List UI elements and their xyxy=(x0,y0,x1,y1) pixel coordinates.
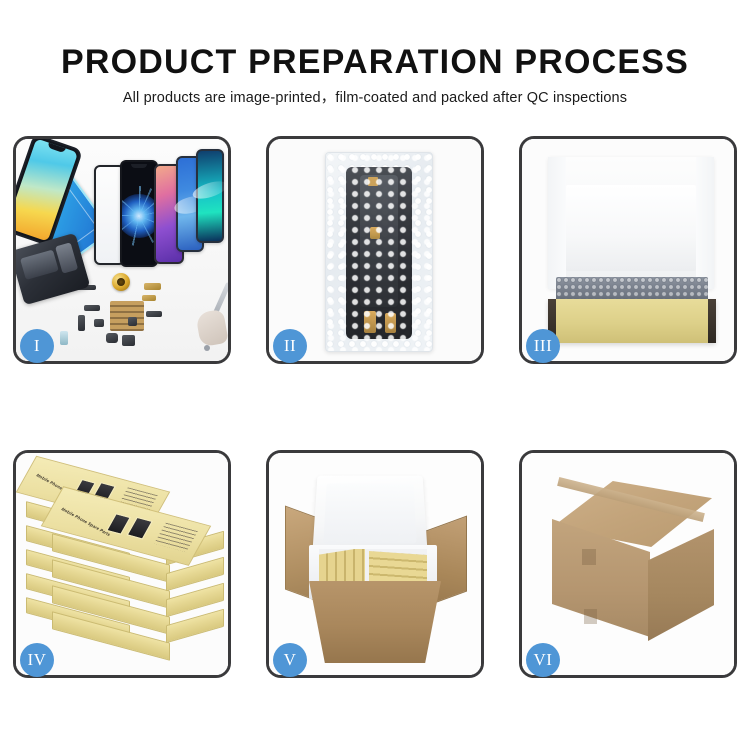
black-phone-screen-icon xyxy=(120,160,158,267)
step-6-image xyxy=(522,453,734,675)
screw-tray-icon xyxy=(110,301,144,331)
step-panel-1[interactable]: I xyxy=(13,136,231,364)
flex-cable-icon xyxy=(364,311,376,333)
flex-cable-icon xyxy=(370,227,380,239)
step-4-image: Mobile Phone Spare Parts xyxy=(16,453,228,675)
step-panel-2[interactable]: II xyxy=(266,136,484,364)
step-badge-1: I xyxy=(20,329,54,363)
step-badge-5: V xyxy=(273,643,307,677)
speaker-coil-icon xyxy=(112,273,130,291)
component-chip-icon xyxy=(94,319,104,327)
step-badge-4: IV xyxy=(20,643,54,677)
carton-seam-icon xyxy=(582,549,596,565)
foam-sheet-icon xyxy=(566,185,696,271)
screen-burst-graphic-icon xyxy=(120,194,158,238)
step-panel-4[interactable]: Mobile Phone Spare Parts xyxy=(13,450,231,678)
product-photo-swatch xyxy=(127,517,153,540)
step-panel-6[interactable]: VI xyxy=(519,450,737,678)
step-2-image xyxy=(269,139,481,361)
step-badge-3: III xyxy=(526,329,560,363)
carton-seam-icon xyxy=(584,609,597,624)
step-panel-3[interactable]: III xyxy=(519,136,737,364)
step-panel-5[interactable]: V xyxy=(266,450,484,678)
notch-icon xyxy=(131,164,147,168)
bubble-wrap-bag-icon xyxy=(325,152,433,352)
screw-icon xyxy=(204,345,210,351)
foam-case-lid-icon xyxy=(312,476,427,554)
flex-cable-icon xyxy=(142,295,156,301)
component-chip-icon xyxy=(122,335,135,346)
teal-wave-phone-icon xyxy=(196,149,224,243)
step-5-image xyxy=(269,453,481,675)
component-chip-icon xyxy=(128,317,137,326)
process-steps-grid: I II xyxy=(13,136,737,678)
flex-cable-icon xyxy=(385,313,396,333)
camera-module-icon xyxy=(106,333,118,343)
spec-text-lines xyxy=(154,523,198,552)
yellow-kraft-box-icon xyxy=(548,299,716,343)
step-3-image xyxy=(522,139,734,361)
lcd-screen-assembly-icon xyxy=(346,167,412,339)
step-1-image xyxy=(16,139,228,361)
header: PRODUCT PREPARATION PROCESS All products… xyxy=(0,0,750,108)
page-title: PRODUCT PREPARATION PROCESS xyxy=(0,42,750,82)
component-chip-icon xyxy=(84,305,100,311)
step-badge-2: II xyxy=(273,329,307,363)
step-badge-6: VI xyxy=(526,643,560,677)
connector-tab-icon xyxy=(368,177,378,186)
product-preparation-infographic: PRODUCT PREPARATION PROCESS All products… xyxy=(0,0,750,750)
box-label-text: Mobile Phone Spare Parts xyxy=(60,507,112,537)
carton-body-icon xyxy=(309,581,441,663)
flex-cable-icon xyxy=(144,283,161,290)
page-subtitle: All products are image-printed，film-coat… xyxy=(0,88,750,108)
small-display-icon xyxy=(60,331,68,345)
component-chip-icon xyxy=(146,311,162,317)
component-chip-icon xyxy=(78,315,85,331)
